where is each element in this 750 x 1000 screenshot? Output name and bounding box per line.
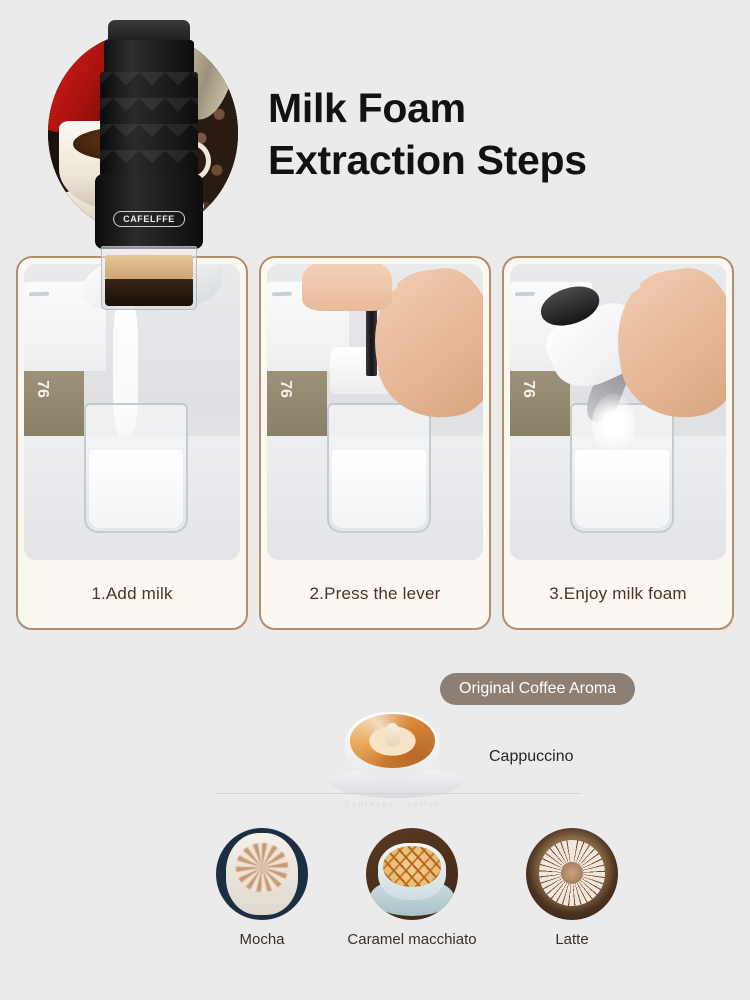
variant-latte-image (526, 828, 618, 920)
variant-caramel-label: Caramel macchiato (330, 931, 494, 948)
espresso-shot (105, 279, 192, 306)
variant-mocha[interactable]: Mocha (212, 828, 312, 948)
glass-cup (327, 403, 431, 533)
cardboard-box: 76 (24, 371, 84, 436)
faint-caption: Espresso · coffee (345, 800, 441, 809)
box-number-label: 76 (33, 380, 51, 398)
cardboard-box: 76 (510, 371, 570, 436)
milk-fill (332, 450, 426, 528)
step-2-caption: 2.Press the lever (261, 560, 489, 628)
page-title-line-1: Milk Foam (268, 82, 718, 134)
steps-section: 76 1.Add milk 76 (0, 256, 750, 634)
shelf-line (515, 292, 535, 297)
espresso-crema (105, 255, 192, 280)
variants-row: Mocha Caramel macchiato Latte (200, 828, 750, 968)
product-infographic-page: Milk Foam Extraction Steps 76 1.Add milk (0, 0, 750, 1000)
caramel-drizzle-foam (383, 846, 440, 886)
variant-latte-label: Latte (522, 931, 622, 948)
brand-logo: CAFELFFE (113, 211, 185, 227)
aroma-badge: Original Coffee Aroma (440, 673, 635, 705)
box-number-label: 76 (519, 380, 537, 398)
cardboard-box: 76 (267, 371, 327, 436)
mocha-cream-swirl (236, 843, 288, 893)
machine-glass-cup (101, 246, 196, 310)
box-number-label: 76 (276, 380, 294, 398)
cappuccino-label: Cappuccino (489, 748, 574, 766)
variant-caramel-image (366, 828, 458, 920)
step-card-3[interactable]: 76 3.Enjoy milk foam (502, 256, 734, 630)
cappuccino-image (338, 706, 456, 798)
milk-fill (89, 450, 183, 528)
page-title: Milk Foam Extraction Steps (268, 82, 718, 187)
cappuccino-handle-icon (436, 739, 457, 763)
variant-caramel-macchiato[interactable]: Caramel macchiato (362, 828, 462, 948)
machine-body (100, 72, 198, 176)
shelf-line (29, 292, 49, 297)
milk-foam-fill (575, 450, 669, 528)
step-card-2[interactable]: 76 2.Press the lever (259, 256, 491, 630)
machine-neck (104, 40, 194, 75)
step-card-1[interactable]: 76 1.Add milk (16, 256, 248, 630)
step-1-caption: 1.Add milk (18, 560, 246, 628)
page-title-line-2: Extraction Steps (268, 134, 718, 186)
pressing-finger (302, 264, 393, 311)
variant-mocha-label: Mocha (212, 931, 312, 948)
variant-latte[interactable]: Latte (522, 828, 622, 948)
glass-cup (84, 403, 188, 533)
latte-art-center (561, 862, 583, 884)
step-3-caption: 3.Enjoy milk foam (504, 560, 732, 628)
step-2-photo: 76 (267, 264, 483, 560)
product-espresso-machine[interactable]: CAFELFFE (88, 20, 210, 310)
shelf-line (272, 292, 292, 297)
latte-art-leaf (384, 723, 401, 748)
fingernail (616, 278, 642, 295)
variant-mocha-image (216, 828, 308, 920)
cappuccino-latte-art (350, 714, 435, 767)
step-3-photo: 76 (510, 264, 726, 560)
section-divider (215, 793, 581, 794)
